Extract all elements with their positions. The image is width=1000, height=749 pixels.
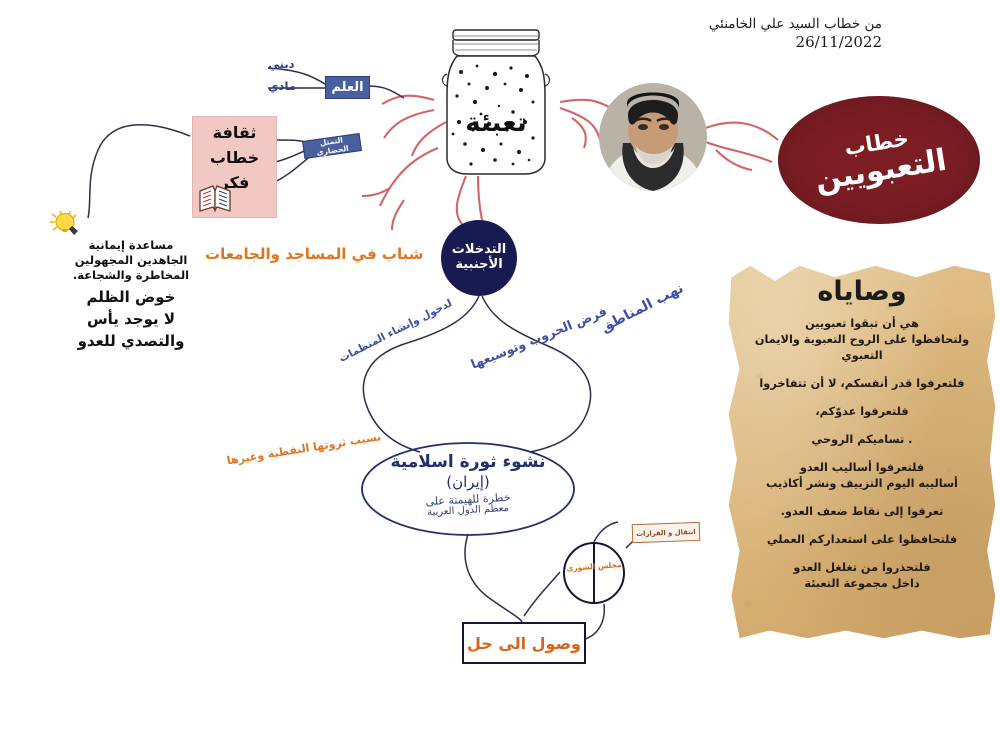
culture-item-1: خطاب (193, 148, 276, 167)
main-topic-node[interactable]: خطاب التعبويين (778, 96, 980, 224)
faith-bold-2: والتصدي للعدو (72, 332, 190, 350)
open-book-icon (197, 183, 233, 213)
header-source: من خطاب السيد علي الخامنئي (709, 16, 882, 32)
branch-label-looting: نهب المناطق (598, 280, 686, 335)
faith-bold-0: خوض الظلم (72, 288, 190, 306)
jar-icon (437, 26, 555, 178)
testament-line-3: . تساميكم الروحي (748, 432, 976, 448)
jar-label: تعبئة (437, 108, 555, 138)
header-date: 26/11/2022 (709, 33, 882, 51)
graph-edges (88, 68, 642, 640)
testament-line-5: تعرفوا إلى نقاط ضعف العدو. (748, 504, 976, 520)
lightbulb-icon (48, 208, 88, 242)
faith-line-2: المخاطرة والشجاعة. (72, 268, 190, 283)
solution-box[interactable]: وصول الى حل (462, 622, 586, 664)
faith-support-block: مساعدة إيمانية الجاهدين المجهولين المخاط… (72, 238, 190, 350)
foreign-intervention-node[interactable]: التدخلات الأجنبية (441, 220, 517, 296)
oil-wealth-label: بسبب ثروتها النفطية وغيرها (226, 430, 382, 467)
testament-line-6: فلتحافظوا على استعداركم العملي (748, 532, 976, 548)
portrait-icon (599, 83, 707, 191)
mindmap-canvas: من خطاب السيد علي الخامنئي 26/11/2022 خط… (0, 0, 1000, 749)
branch-label-organizations: لدخول وإنشاء المنظمات (337, 297, 454, 365)
testament-line-4: فلتعرفوا أساليب العدوأساليبه اليوم التزي… (748, 460, 976, 492)
revolution-node[interactable]: نشوء ثورة اسلامية (إيران) خطرة للهيمنة ع… (362, 452, 574, 516)
testament-panel: وصاياه هي أن تبقوا تعبويينولتحافظوا على … (726, 262, 998, 642)
youth-label: شباب في المساجد والجامعات (205, 245, 423, 263)
header: من خطاب السيد علي الخامنئي 26/11/2022 (709, 16, 882, 51)
branch-label-wars: فرض الحروب وتوسيعها (468, 303, 608, 371)
nerve-branches (362, 96, 778, 230)
foreign-line1: التدخلات (452, 243, 506, 258)
transition-tag[interactable]: انتقال و القرارات (632, 522, 701, 543)
knowledge-branch-material: مادي (268, 79, 296, 93)
testament-line-0: هي أن تبقوا تعبويينولتحافظوا على الروح ا… (748, 316, 976, 364)
foreign-line2: الأجنبية (452, 258, 506, 273)
revolution-line1: نشوء ثورة اسلامية (362, 452, 574, 472)
testament-title: وصاياه (748, 276, 976, 307)
knowledge-branch-religious: ديني (268, 57, 295, 71)
civilization-label[interactable]: التمثل الحضاري (302, 133, 362, 159)
testament-line-7: فلتحذروا من تغلغل العدوداخل مجموعة التعب… (748, 560, 976, 592)
solution-label: وصول الى حل (467, 634, 581, 653)
faith-line-1: الجاهدين المجهولين (72, 253, 190, 268)
faith-line-0: مساعدة إيمانية (72, 238, 190, 253)
testament-line-2: فلتعرفوا عدوّكم، (748, 404, 976, 420)
knowledge-box[interactable]: العلم (325, 76, 370, 99)
shura-divider (593, 542, 595, 604)
faith-bold-1: لا يوجد يأس (72, 310, 190, 328)
testament-line-1: فلتعرفوا قدر أنفسكم، لا أن تتفاخروا (748, 376, 976, 392)
culture-item-0: ثقافة (193, 123, 276, 142)
